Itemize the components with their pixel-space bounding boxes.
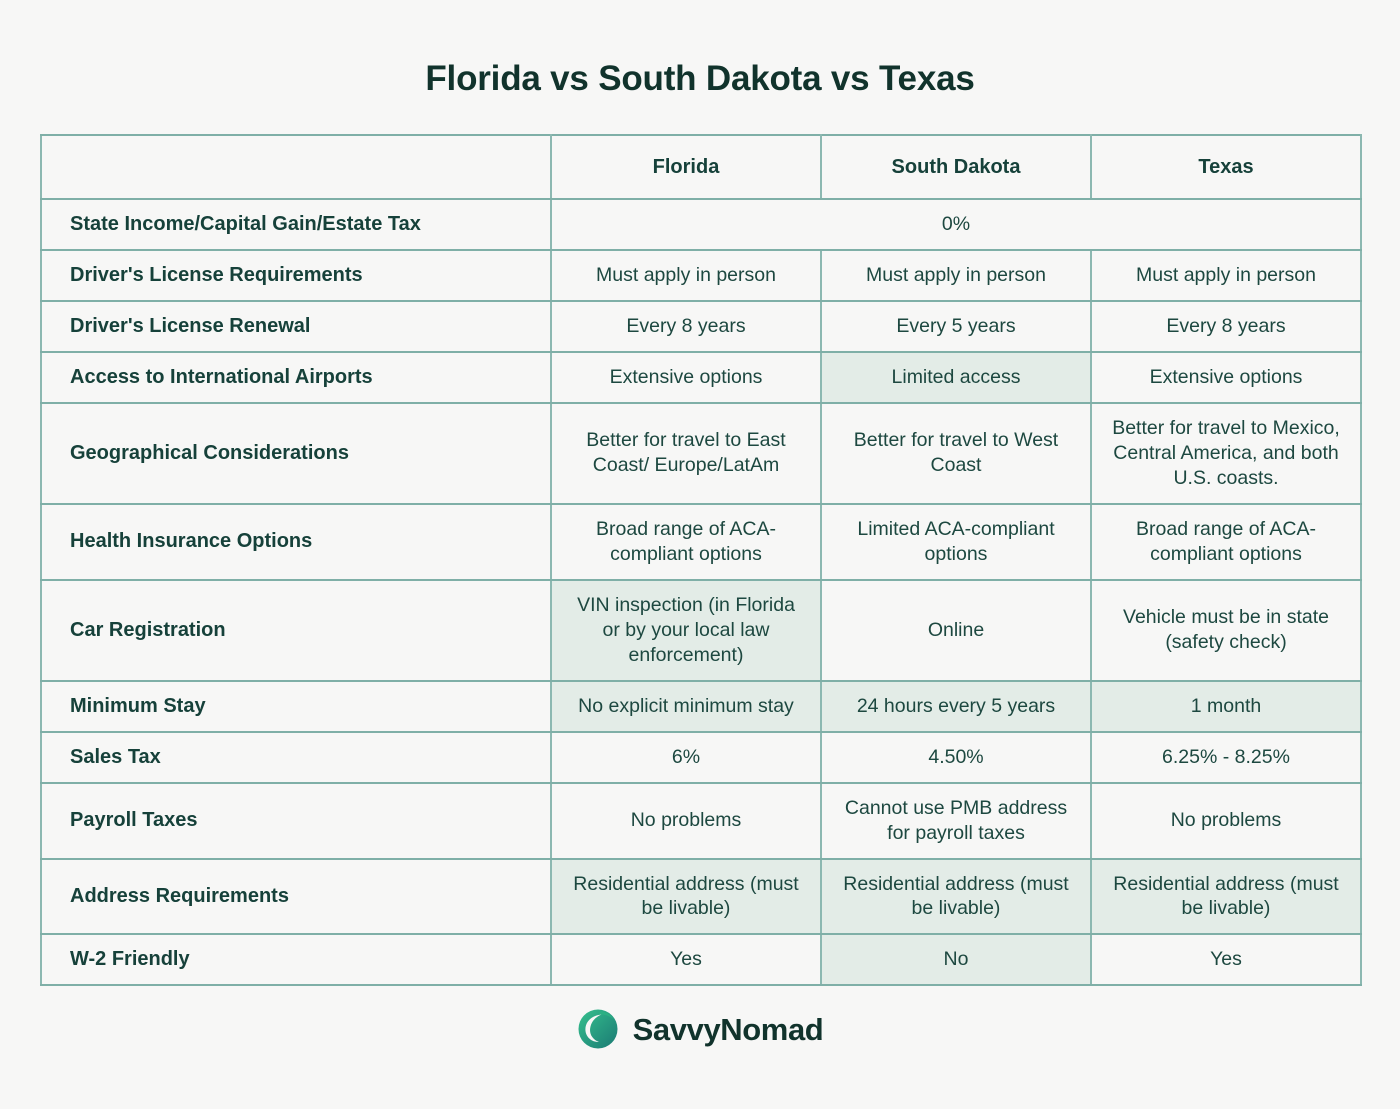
table-cell-texas: Vehicle must be in state (safety check): [1091, 580, 1361, 681]
table-row: Car RegistrationVIN inspection (in Flori…: [41, 580, 1361, 681]
row-header-label: Health Insurance Options: [41, 504, 551, 580]
table-header-row: Florida South Dakota Texas: [41, 135, 1361, 199]
table-cell-florida: VIN inspection (in Florida or by your lo…: [551, 580, 821, 681]
table-cell-texas: 1 month: [1091, 681, 1361, 732]
table-cell-south-dakota: Must apply in person: [821, 250, 1091, 301]
table-row: Driver's License RenewalEvery 8 yearsEve…: [41, 301, 1361, 352]
table-cell-texas: Extensive options: [1091, 352, 1361, 403]
table-cell-merged: 0%: [551, 199, 1361, 250]
table-row: State Income/Capital Gain/Estate Tax0%: [41, 199, 1361, 250]
page-title: Florida vs South Dakota vs Texas: [0, 0, 1400, 100]
table-corner-cell: [41, 135, 551, 199]
comparison-table-wrapper: Florida South Dakota Texas State Income/…: [40, 134, 1360, 986]
row-header-label: Geographical Considerations: [41, 403, 551, 504]
table-cell-texas: Residential address (must be livable): [1091, 859, 1361, 935]
table-cell-south-dakota: No: [821, 934, 1091, 985]
table-cell-florida: Must apply in person: [551, 250, 821, 301]
row-header-label: State Income/Capital Gain/Estate Tax: [41, 199, 551, 250]
savvynomad-logo-icon: [577, 1008, 619, 1050]
row-header-label: Driver's License Requirements: [41, 250, 551, 301]
column-header-texas: Texas: [1091, 135, 1361, 199]
table-body: State Income/Capital Gain/Estate Tax0%Dr…: [41, 199, 1361, 985]
row-header-label: Driver's License Renewal: [41, 301, 551, 352]
table-row: Minimum StayNo explicit minimum stay24 h…: [41, 681, 1361, 732]
table-cell-south-dakota: Limited access: [821, 352, 1091, 403]
table-row: Driver's License RequirementsMust apply …: [41, 250, 1361, 301]
table-cell-texas: Yes: [1091, 934, 1361, 985]
table-header: Florida South Dakota Texas: [41, 135, 1361, 199]
table-row: Payroll TaxesNo problemsCannot use PMB a…: [41, 783, 1361, 859]
row-header-label: Address Requirements: [41, 859, 551, 935]
table-cell-florida: Better for travel to East Coast/ Europe/…: [551, 403, 821, 504]
column-header-florida: Florida: [551, 135, 821, 199]
table-row: Address RequirementsResidential address …: [41, 859, 1361, 935]
table-cell-florida: 6%: [551, 732, 821, 783]
comparison-table: Florida South Dakota Texas State Income/…: [40, 134, 1362, 986]
table-cell-florida: No explicit minimum stay: [551, 681, 821, 732]
table-row: W-2 FriendlyYesNoYes: [41, 934, 1361, 985]
comparison-infographic: Florida vs South Dakota vs Texas Florida…: [0, 0, 1400, 1109]
row-header-label: Access to International Airports: [41, 352, 551, 403]
row-header-label: Sales Tax: [41, 732, 551, 783]
table-cell-south-dakota: Residential address (must be livable): [821, 859, 1091, 935]
row-header-label: Car Registration: [41, 580, 551, 681]
row-header-label: Payroll Taxes: [41, 783, 551, 859]
table-row: Health Insurance OptionsBroad range of A…: [41, 504, 1361, 580]
row-header-label: Minimum Stay: [41, 681, 551, 732]
table-cell-south-dakota: Cannot use PMB address for payroll taxes: [821, 783, 1091, 859]
table-row: Geographical ConsiderationsBetter for tr…: [41, 403, 1361, 504]
table-row: Access to International AirportsExtensiv…: [41, 352, 1361, 403]
table-cell-florida: Yes: [551, 934, 821, 985]
table-row: Sales Tax6%4.50%6.25% - 8.25%: [41, 732, 1361, 783]
table-cell-florida: Broad range of ACA-compliant options: [551, 504, 821, 580]
table-cell-texas: Broad range of ACA-compliant options: [1091, 504, 1361, 580]
table-cell-south-dakota: Every 5 years: [821, 301, 1091, 352]
row-header-label: W-2 Friendly: [41, 934, 551, 985]
footer-branding: SavvyNomad: [0, 1008, 1400, 1050]
table-cell-florida: Residential address (must be livable): [551, 859, 821, 935]
table-cell-florida: No problems: [551, 783, 821, 859]
table-cell-florida: Extensive options: [551, 352, 821, 403]
table-cell-texas: Must apply in person: [1091, 250, 1361, 301]
table-cell-south-dakota: Better for travel to West Coast: [821, 403, 1091, 504]
table-cell-texas: Every 8 years: [1091, 301, 1361, 352]
table-cell-texas: 6.25% - 8.25%: [1091, 732, 1361, 783]
table-cell-texas: Better for travel to Mexico, Central Ame…: [1091, 403, 1361, 504]
table-cell-south-dakota: Online: [821, 580, 1091, 681]
table-cell-south-dakota: 24 hours every 5 years: [821, 681, 1091, 732]
table-cell-texas: No problems: [1091, 783, 1361, 859]
table-cell-south-dakota: 4.50%: [821, 732, 1091, 783]
brand-name: SavvyNomad: [633, 1014, 824, 1045]
column-header-south-dakota: South Dakota: [821, 135, 1091, 199]
table-cell-florida: Every 8 years: [551, 301, 821, 352]
table-cell-south-dakota: Limited ACA-compliant options: [821, 504, 1091, 580]
